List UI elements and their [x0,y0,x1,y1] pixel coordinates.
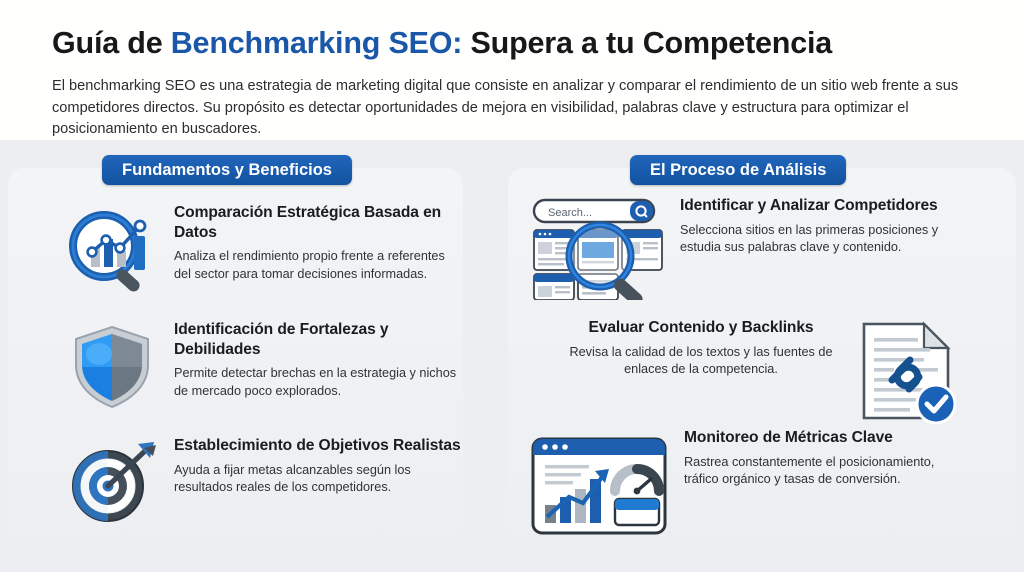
list-item: Identificación de Fortalezas y Debilidad… [60,320,470,412]
list-item-body: Ayuda a fijar metas alcanzables según lo… [174,462,470,497]
list-item-body: Revisa la calidad de los textos y las fu… [566,344,836,379]
list-item-heading: Identificar y Analizar Competidores [680,196,958,216]
list-item-text: Establecimiento de Objetivos Realistas A… [174,436,470,497]
list-item: Comparación Estratégica Basada en Datos … [60,203,460,295]
left-panel-badge: Fundamentos y Beneficios [102,155,352,185]
list-item-body: Selecciona sitios en las primeras posici… [680,222,958,257]
search-placeholder-text: Search... [548,207,592,219]
list-item-body: Analiza el rendimiento propio frente a r… [174,248,460,283]
shield-icon [60,320,164,412]
list-item: Search... [528,196,958,300]
title-highlight: Benchmarking SEO: [171,26,463,60]
infographic-canvas: Guía de Benchmarking SEO: Supera a tu Co… [0,0,1024,572]
list-item: Evaluar Contenido y Backlinks Revisa la … [566,318,966,424]
list-item-heading: Identificación de Fortalezas y Debilidad… [174,320,470,359]
page-title: Guía de Benchmarking SEO: Supera a tu Co… [52,26,992,61]
list-item-text: Comparación Estratégica Basada en Datos … [174,203,460,283]
target-arrow-icon [60,436,164,528]
list-item-text: Identificación de Fortalezas y Debilidad… [174,320,470,400]
list-item: Monitoreo de Métricas Clave Rastrea cons… [524,428,964,542]
search-results-magnifier-icon: Search... [528,196,668,300]
list-item-heading: Monitoreo de Métricas Clave [684,428,964,448]
list-item-heading: Comparación Estratégica Basada en Datos [174,203,460,242]
title-part-2: Supera a tu Competencia [462,26,832,60]
list-item-heading: Establecimiento de Objetivos Realistas [174,436,470,456]
document-link-check-icon [848,318,966,424]
list-item-text: Evaluar Contenido y Backlinks Revisa la … [566,318,836,379]
list-item-body: Permite detectar brechas en la estrategi… [174,365,470,400]
magnifier-chart-icon [60,203,164,295]
list-item-body: Rastrea constantemente el posicionamient… [684,454,964,489]
page-subtitle: El benchmarking SEO es una estrategia de… [52,76,982,141]
list-item-heading: Evaluar Contenido y Backlinks [566,318,836,338]
list-item-text: Identificar y Analizar Competidores Sele… [680,196,958,257]
right-panel-badge: El Proceso de Análisis [630,155,846,185]
header-band: Guía de Benchmarking SEO: Supera a tu Co… [0,0,1024,140]
title-part-1: Guía de [52,26,171,60]
dashboard-metrics-icon [524,428,674,542]
list-item: Establecimiento de Objetivos Realistas A… [60,436,470,528]
list-item-text: Monitoreo de Métricas Clave Rastrea cons… [684,428,964,489]
